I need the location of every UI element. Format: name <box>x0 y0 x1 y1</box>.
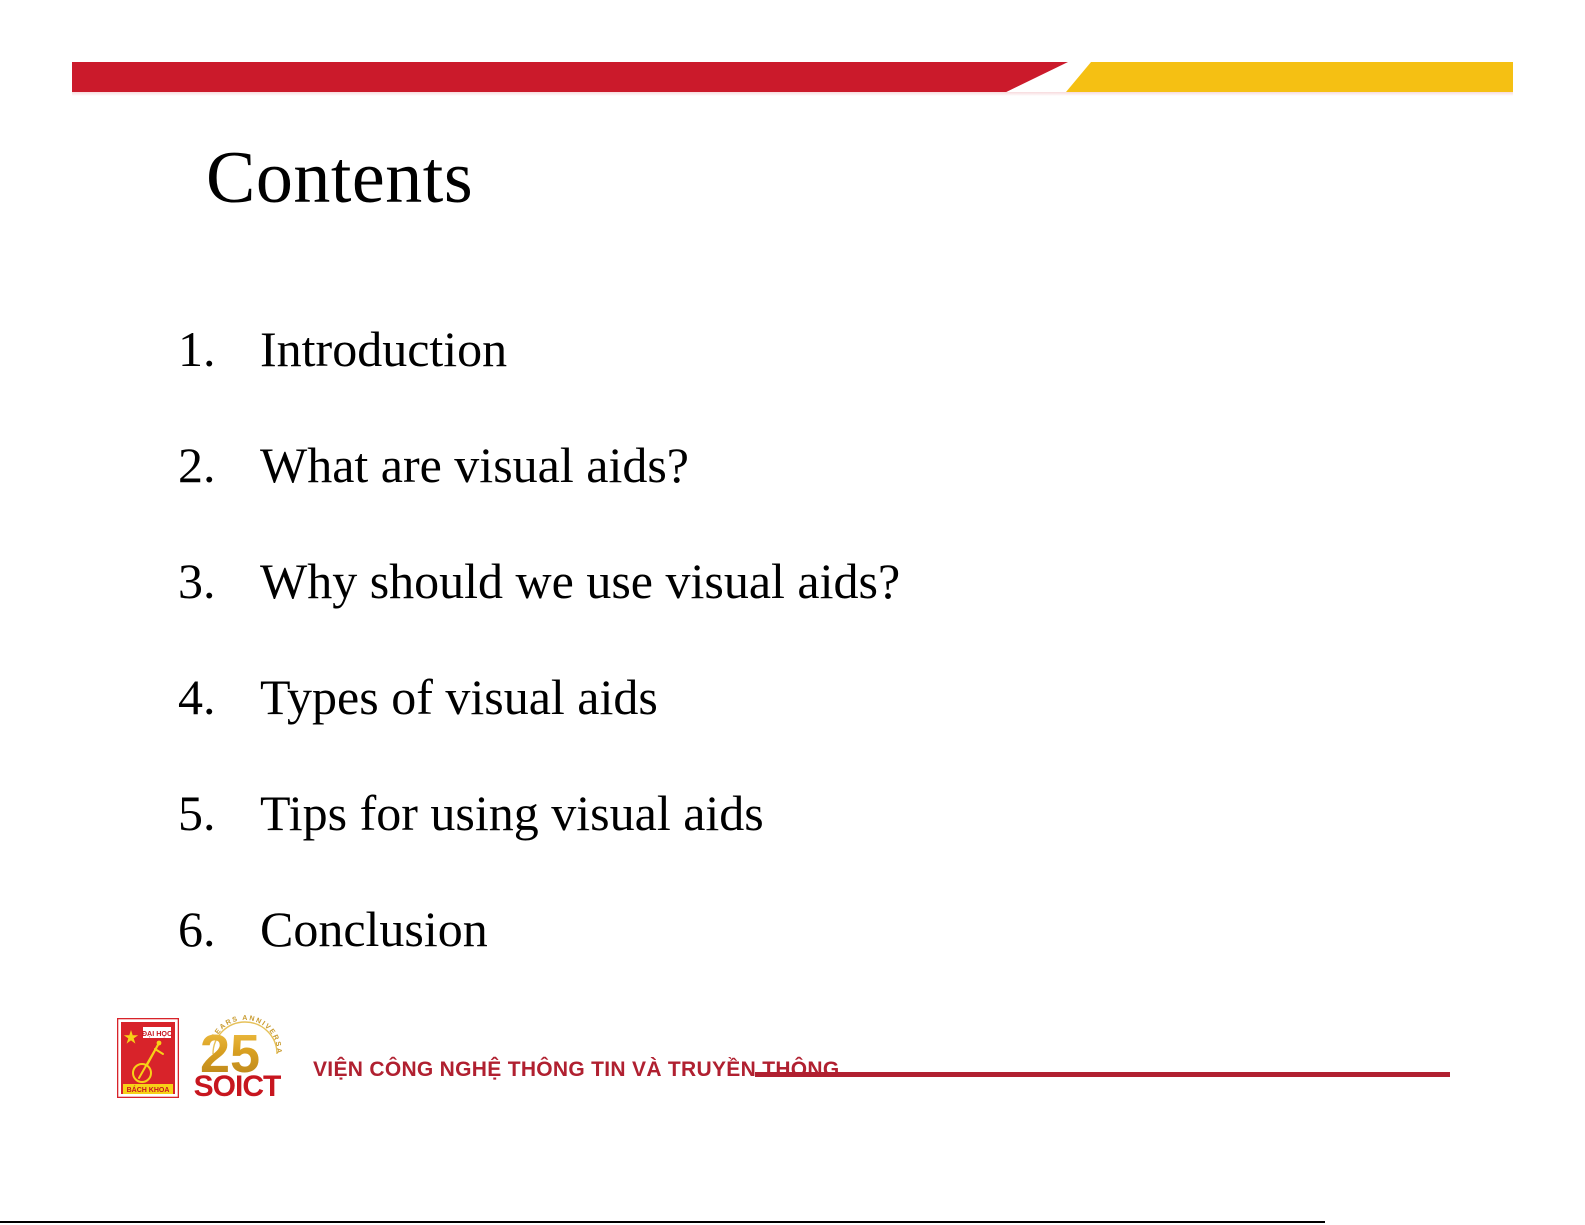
contents-list: 1. Introduction 2. What are visual aids?… <box>178 320 1378 1016</box>
list-item-label: Types of visual aids <box>260 668 1378 726</box>
svg-text:ĐẠI HỌC: ĐẠI HỌC <box>142 1029 172 1038</box>
list-item-number: 1. <box>178 320 260 378</box>
list-item-label: What are visual aids? <box>260 436 1378 494</box>
list-item-number: 6. <box>178 900 260 958</box>
header-accent-yellow <box>1066 62 1513 92</box>
header-accent-red <box>72 62 1068 92</box>
hust-logo: ĐẠI HỌC BÁCH KHOA <box>117 1018 179 1098</box>
footer-horizontal-rule <box>755 1072 1450 1077</box>
svg-text:BÁCH KHOA: BÁCH KHOA <box>127 1085 170 1094</box>
list-item-number: 2. <box>178 436 260 494</box>
hust-logo-icon: ĐẠI HỌC BÁCH KHOA <box>117 1018 179 1098</box>
list-item-number: 4. <box>178 668 260 726</box>
soict-logo-icon: YEARS ANNIVERSARY 25 SOICT <box>175 1010 300 1100</box>
list-item[interactable]: 1. Introduction <box>178 320 1378 436</box>
soict-logo: YEARS ANNIVERSARY 25 SOICT <box>175 1010 300 1100</box>
list-item-label: Why should we use visual aids? <box>260 552 1378 610</box>
list-item-number: 3. <box>178 552 260 610</box>
slide-title: Contents <box>206 141 473 215</box>
list-item[interactable]: 4. Types of visual aids <box>178 668 1378 784</box>
list-item-label: Tips for using visual aids <box>260 784 1378 842</box>
header-accent-bar <box>0 62 1585 92</box>
list-item[interactable]: 6. Conclusion <box>178 900 1378 1016</box>
slide-bottom-border <box>0 1221 1325 1223</box>
presentation-slide: Contents 1. Introduction 2. What are vis… <box>0 0 1585 1225</box>
list-item[interactable]: 5. Tips for using visual aids <box>178 784 1378 900</box>
list-item-number: 5. <box>178 784 260 842</box>
list-item[interactable]: 2. What are visual aids? <box>178 436 1378 552</box>
list-item-label: Introduction <box>260 320 1378 378</box>
soict-wordmark: SOICT <box>194 1070 281 1100</box>
list-item-label: Conclusion <box>260 900 1378 958</box>
list-item[interactable]: 3. Why should we use visual aids? <box>178 552 1378 668</box>
footer-organization-name: VIỆN CÔNG NGHỆ THÔNG TIN VÀ TRUYỀN THÔNG <box>313 1058 840 1082</box>
header-accent-shadow <box>72 92 1513 96</box>
